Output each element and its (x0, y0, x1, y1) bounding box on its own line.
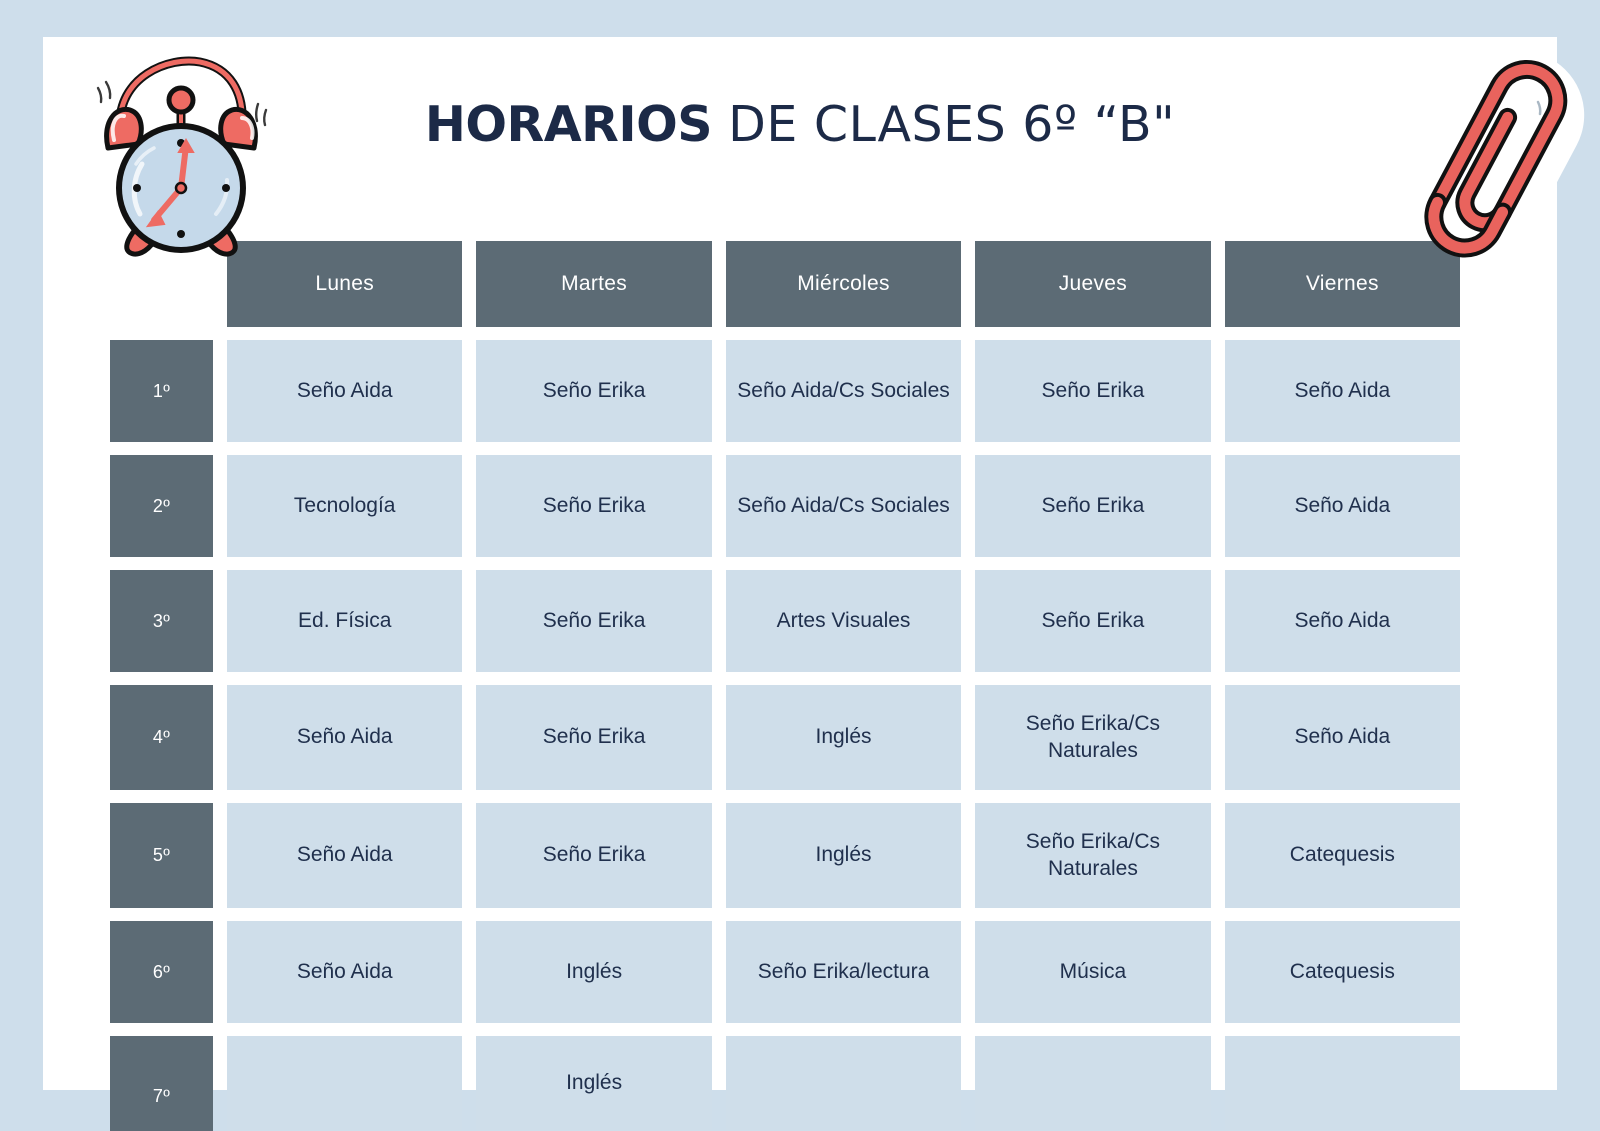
cell-7-viernes[interactable] (1225, 1036, 1460, 1131)
cell-6-jueves[interactable]: Música (975, 921, 1210, 1023)
cell-2-viernes[interactable]: Seño Aida (1225, 455, 1460, 557)
cell-2-lunes[interactable]: Tecnología (227, 455, 462, 557)
table-row: 1º Seño Aida Seño Erika Seño Aida/Cs Soc… (110, 340, 1460, 442)
cell-5-martes[interactable]: Seño Erika (476, 803, 711, 908)
cell-5-viernes[interactable]: Catequesis (1225, 803, 1460, 908)
cell-3-viernes[interactable]: Seño Aida (1225, 570, 1460, 672)
timetable: Lunes Martes Miércoles Jueves Viernes 1º… (110, 241, 1460, 1131)
table-row: 6º Seño Aida Inglés Seño Erika/lectura M… (110, 921, 1460, 1023)
cell-7-lunes[interactable] (227, 1036, 462, 1131)
paperclip-icon (1398, 36, 1600, 262)
cell-7-jueves[interactable] (975, 1036, 1210, 1131)
cell-2-miercoles[interactable]: Seño Aida/Cs Sociales (726, 455, 961, 557)
cell-5-jueves[interactable]: Seño Erika/Cs Naturales (975, 803, 1210, 908)
cell-6-lunes[interactable]: Seño Aida (227, 921, 462, 1023)
period-label-3: 3º (110, 570, 213, 672)
cell-6-viernes[interactable]: Catequesis (1225, 921, 1460, 1023)
period-label-1: 1º (110, 340, 213, 442)
cell-2-martes[interactable]: Seño Erika (476, 455, 711, 557)
period-label-5: 5º (110, 803, 213, 908)
period-label-4: 4º (110, 685, 213, 790)
cell-1-miercoles[interactable]: Seño Aida/Cs Sociales (726, 340, 961, 442)
cell-7-miercoles[interactable] (726, 1036, 961, 1131)
cell-4-lunes[interactable]: Seño Aida (227, 685, 462, 790)
day-header-jueves[interactable]: Jueves (975, 241, 1210, 327)
period-label-2: 2º (110, 455, 213, 557)
period-label-6: 6º (110, 921, 213, 1023)
cell-1-martes[interactable]: Seño Erika (476, 340, 711, 442)
cell-3-jueves[interactable]: Seño Erika (975, 570, 1210, 672)
cell-2-jueves[interactable]: Seño Erika (975, 455, 1210, 557)
cell-7-martes[interactable]: Inglés (476, 1036, 711, 1131)
cell-3-martes[interactable]: Seño Erika (476, 570, 711, 672)
table-header-row: Lunes Martes Miércoles Jueves Viernes (110, 241, 1460, 327)
cell-4-jueves[interactable]: Seño Erika/Cs Naturales (975, 685, 1210, 790)
day-header-miercoles[interactable]: Miércoles (726, 241, 961, 327)
period-label-7: 7º (110, 1036, 213, 1131)
alarm-clock-icon (82, 48, 282, 260)
cell-4-miercoles[interactable]: Inglés (726, 685, 961, 790)
table-row: 3º Ed. Física Seño Erika Artes Visuales … (110, 570, 1460, 672)
table-row: 2º Tecnología Seño Erika Seño Aida/Cs So… (110, 455, 1460, 557)
cell-1-jueves[interactable]: Seño Erika (975, 340, 1210, 442)
cell-4-viernes[interactable]: Seño Aida (1225, 685, 1460, 790)
cell-3-lunes[interactable]: Ed. Física (227, 570, 462, 672)
cell-6-martes[interactable]: Inglés (476, 921, 711, 1023)
cell-5-miercoles[interactable]: Inglés (726, 803, 961, 908)
cell-5-lunes[interactable]: Seño Aida (227, 803, 462, 908)
cell-4-martes[interactable]: Seño Erika (476, 685, 711, 790)
day-header-martes[interactable]: Martes (476, 241, 711, 327)
cell-1-lunes[interactable]: Seño Aida (227, 340, 462, 442)
cell-6-miercoles[interactable]: Seño Erika/lectura (726, 921, 961, 1023)
table-row: 4º Seño Aida Seño Erika Inglés Seño Erik… (110, 685, 1460, 790)
cell-1-viernes[interactable]: Seño Aida (1225, 340, 1460, 442)
cell-3-miercoles[interactable]: Artes Visuales (726, 570, 961, 672)
table-row: 7º Inglés (110, 1036, 1460, 1131)
table-row: 5º Seño Aida Seño Erika Inglés Seño Erik… (110, 803, 1460, 908)
